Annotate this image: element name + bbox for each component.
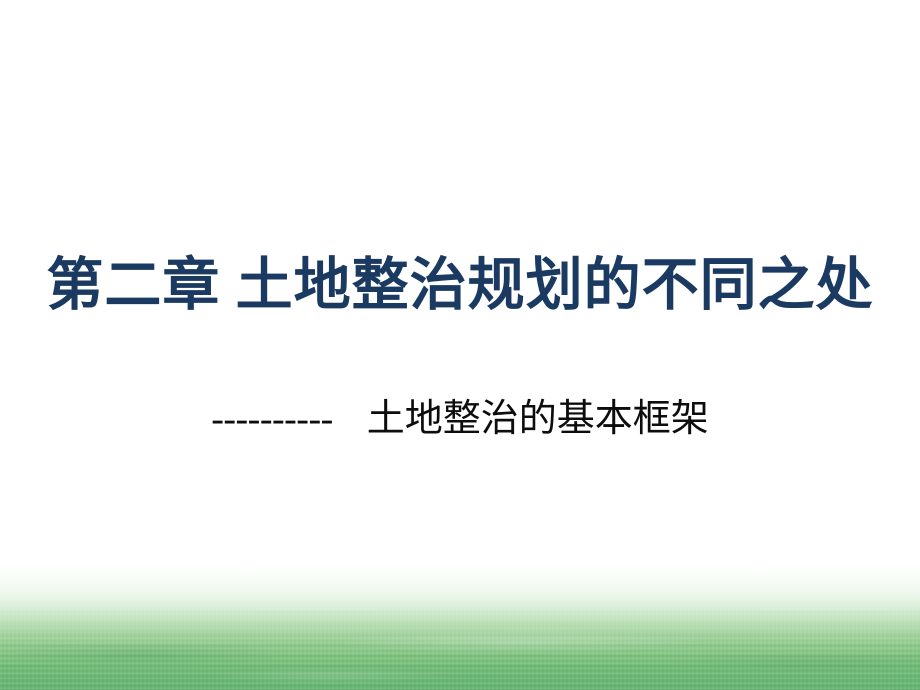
- slide-title: 第二章 土地整治规划的不同之处: [0, 250, 920, 322]
- presentation-slide: 第二章 土地整治规划的不同之处 ----------土地整治的基本框架: [0, 0, 920, 690]
- sky-background: [0, 0, 920, 200]
- subtitle-label: 土地整治的基本框架: [367, 398, 709, 440]
- subtitle-dash-prefix: ----------: [211, 398, 333, 440]
- grass-background: [0, 560, 920, 690]
- slide-subtitle: ----------土地整治的基本框架: [0, 393, 920, 445]
